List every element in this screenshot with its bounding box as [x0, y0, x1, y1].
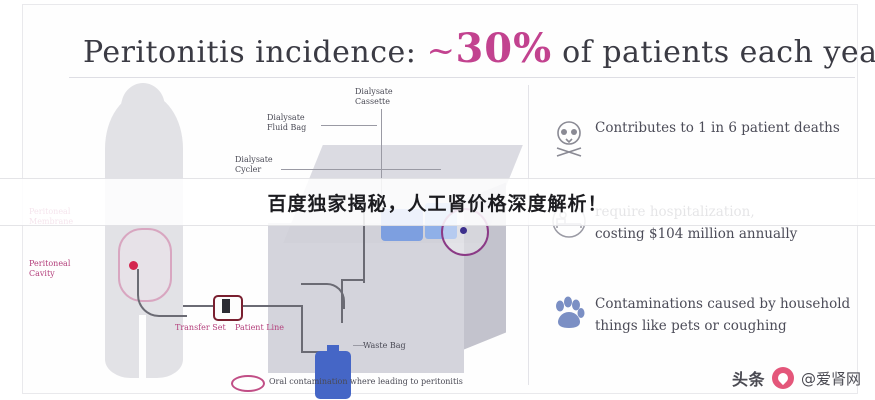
watermark-platform: 头条: [732, 366, 765, 390]
leader-cycler: [281, 169, 441, 170]
fact-item-contamination: Contaminations caused by household thing…: [543, 291, 873, 337]
cycler-port-dot: [460, 227, 467, 234]
skull-crossbones-icon: [543, 115, 595, 161]
label-waste-bag: Waste Bag: [363, 341, 406, 351]
tube-segment-elbow: [301, 283, 345, 309]
fact-text-deaths: Contributes to 1 in 6 patient deaths: [595, 115, 840, 139]
watermark: 头条 @爱肾网: [732, 366, 861, 390]
label-dialysate-cycler: Dialysate Cycler: [235, 155, 273, 175]
waste-bag-shape: [315, 351, 351, 399]
patient-neck-shape: [133, 119, 153, 141]
leader-waste-bag: [353, 345, 365, 346]
label-patient-line: Patient Line: [235, 323, 284, 333]
transfer-set-clamp-bar: [222, 299, 230, 313]
fact-text-contamination: Contaminations caused by household thing…: [595, 291, 850, 337]
pd-system-diagram: Dialysate Fluid Bag Dialysate Cassette D…: [63, 83, 523, 388]
headline-percent: 30%: [455, 25, 552, 72]
fact-item-deaths: Contributes to 1 in 6 patient deaths: [543, 115, 873, 161]
patient-leg-gap: [139, 315, 146, 379]
fact-text-hospitalization-line2: costing $104 million annually: [595, 223, 797, 245]
fact-text-contamination-line2: things like pets or coughing: [595, 315, 850, 337]
label-dialysate-cassette: Dialysate Cassette: [355, 87, 393, 107]
headline-prefix: Peritonitis incidence:: [83, 35, 426, 70]
headline-tilde: ~: [426, 31, 455, 71]
tube-segment-catheter: [137, 269, 187, 317]
headline-divider: [69, 77, 855, 78]
banner-title: 百度独家揭秘，人工肾价格深度解析！: [267, 189, 607, 216]
column-divider: [528, 85, 529, 385]
tube-segment-patient-line: [183, 305, 303, 307]
tube-segment-riser: [341, 279, 343, 323]
watermark-account: @爱肾网: [801, 368, 861, 389]
watermark-logo-icon: [772, 367, 794, 389]
headline-suffix: of patients each year: [552, 35, 875, 70]
overlay-banner: 百度独家揭秘，人工肾价格深度解析！: [0, 178, 875, 226]
footnote-marker-icon: [231, 375, 265, 392]
label-peritoneal-cavity: Peritoneal Cavity: [29, 259, 70, 279]
paw-print-icon: [543, 291, 595, 337]
label-footnote: Oral contamination where leading to peri…: [269, 377, 463, 387]
label-dialysate-fluid-bag: Dialysate Fluid Bag: [267, 113, 306, 133]
tube-segment-drain: [301, 305, 303, 353]
screenshot-root: Peritonitis incidence: ~30% of patients …: [0, 0, 875, 400]
page-title: Peritonitis incidence: ~30% of patients …: [83, 25, 833, 72]
fact-text-contamination-line1: Contaminations caused by household: [595, 293, 850, 315]
leader-fluid-bag: [321, 125, 377, 126]
label-transfer-set: Transfer Set: [175, 323, 226, 333]
tube-segment-joint: [341, 279, 365, 281]
